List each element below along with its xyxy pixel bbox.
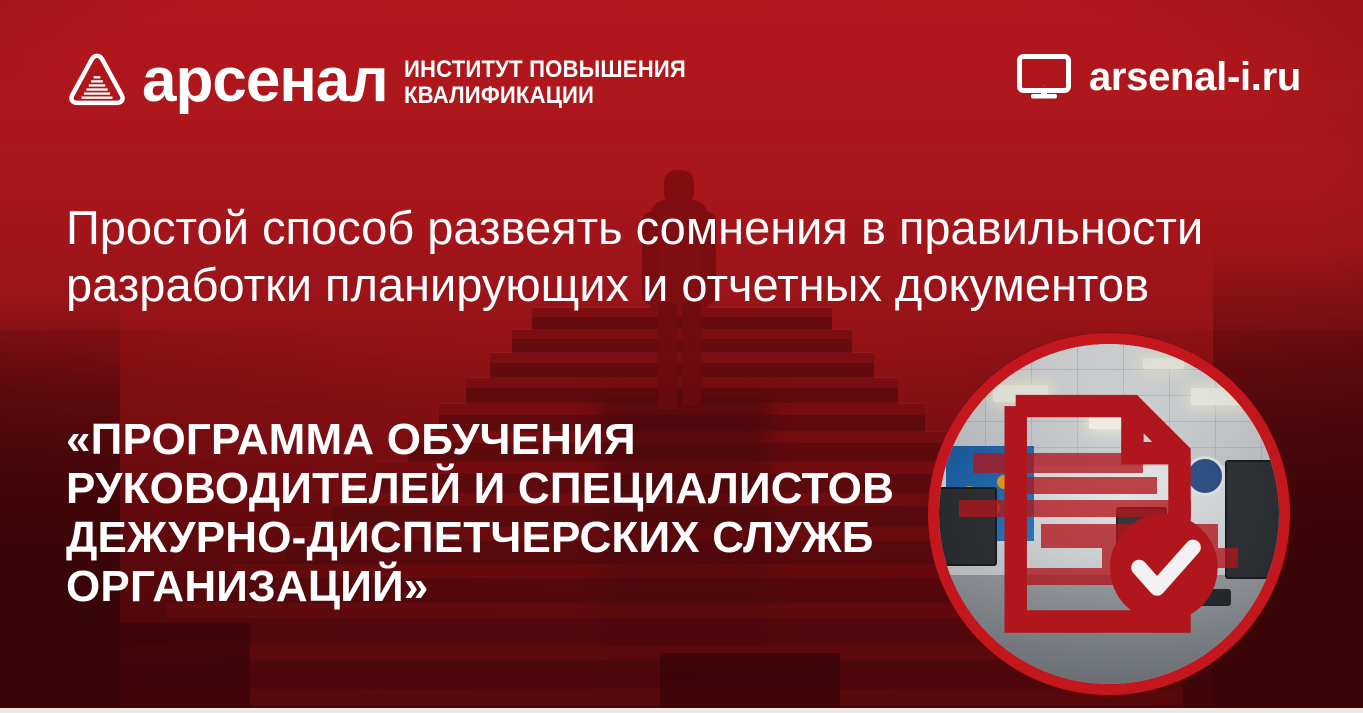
program-title-line3: ДЕЖУРНО-ДИСПЕТЧЕРСКИХ СЛУЖБ <box>66 513 966 562</box>
headline-line2: разработки планирующих и отчетных докуме… <box>66 256 1246 313</box>
dispatch-operator-photo <box>939 344 1279 684</box>
website-link[interactable]: arsenal-i.ru <box>1017 54 1301 100</box>
bottom-strip <box>0 708 1363 713</box>
program-title-line4: ОРГАНИЗАЦИЙ» <box>66 562 966 611</box>
monitor-icon <box>1017 54 1071 100</box>
brand-tagline-line2: КВАЛИФИКАЦИИ <box>404 83 686 109</box>
program-title-line1: «ПРОГРАММА ОБУЧЕНИЯ <box>66 415 966 464</box>
brand-name: арсенал <box>142 50 388 112</box>
program-title-line2: РУКОВОДИТЕЛЕЙ И СПЕЦИАЛИСТОВ <box>66 464 966 513</box>
headline-line1: Простой способ развеять сомнения в прави… <box>66 199 1246 256</box>
headline: Простой способ развеять сомнения в прави… <box>66 199 1246 313</box>
promo-banner: арсенал ИНСТИТУТ ПОВЫШЕНИЯ КВАЛИФИКАЦИИ … <box>0 0 1363 713</box>
brand-logo[interactable]: арсенал ИНСТИТУТ ПОВЫШЕНИЯ КВАЛИФИКАЦИИ <box>66 50 710 112</box>
brand-tagline-line1: ИНСТИТУТ ПОВЫШЕНИЯ <box>404 57 686 83</box>
page-title: «ПРОГРАММА ОБУЧЕНИЯ РУКОВОДИТЕЛЕЙ И СПЕЦ… <box>66 415 966 611</box>
arsenal-triangle-logo-icon <box>66 50 128 112</box>
website-url: arsenal-i.ru <box>1089 55 1301 99</box>
banner-header: арсенал ИНСТИТУТ ПОВЫШЕНИЯ КВАЛИФИКАЦИИ … <box>0 0 1363 150</box>
document-with-checkmark-icon <box>1000 388 1224 640</box>
circular-photo-frame <box>928 333 1290 695</box>
brand-tagline: ИНСТИТУТ ПОВЫШЕНИЯ КВАЛИФИКАЦИИ <box>404 53 686 109</box>
